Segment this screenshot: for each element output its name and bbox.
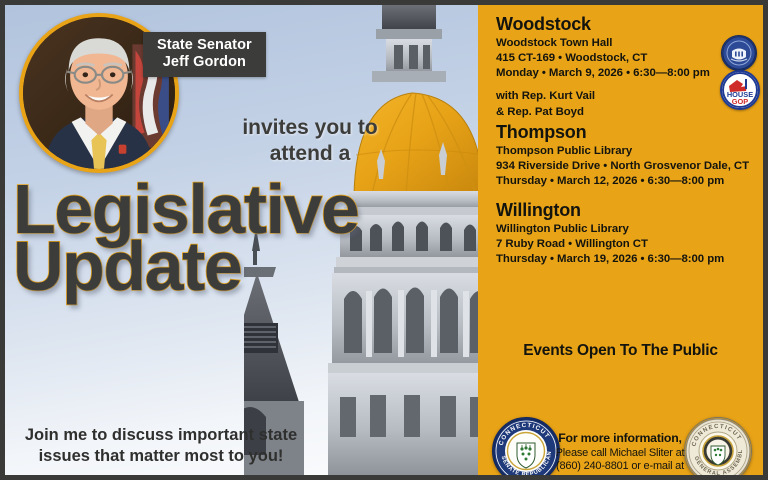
page-title: Legislative Update bbox=[13, 181, 453, 296]
invitation-text: invites you to attend a bbox=[195, 115, 425, 166]
left-panel: State Senator Jeff Gordon invites you to… bbox=[5, 5, 478, 475]
invites-line-2: attend a bbox=[195, 141, 425, 167]
events-panel: Woodstock Woodstock Town Hall 415 CT-169… bbox=[478, 5, 763, 475]
house-gop-badge-icon: HOUSE GOP bbox=[720, 70, 760, 110]
event-with-rep-line-1: with Rep. Kurt Vail bbox=[496, 89, 742, 104]
event-address: 7 Ruby Road • Willington CT bbox=[496, 237, 742, 252]
event-item: Woodstock Woodstock Town Hall 415 CT-169… bbox=[496, 15, 742, 120]
contact-heading: For more information, bbox=[550, 431, 690, 446]
ct-general-assembly-seal: CONNECTICUT GENERAL ASSEMBLY bbox=[684, 417, 752, 475]
contact-email: Michael.Sliter@cga.ct.gov bbox=[550, 474, 690, 475]
event-item: Willington Willington Public Library 7 R… bbox=[496, 201, 742, 267]
tagline-line-1: Join me to discuss important state bbox=[11, 425, 311, 446]
event-address: 415 CT-169 • Woodstock, CT bbox=[496, 51, 742, 66]
event-datetime: Monday • March 9, 2026 • 6:30—8:00 pm bbox=[496, 66, 742, 81]
invites-line-1: invites you to bbox=[195, 115, 425, 141]
event-datetime: Thursday • March 19, 2026 • 6:30—8:00 pm bbox=[496, 252, 742, 267]
nameplate-name: Jeff Gordon bbox=[157, 54, 252, 71]
contact-line-1: Please call Michael Sliter at bbox=[550, 447, 690, 460]
nameplate-title: State Senator bbox=[157, 37, 252, 54]
public-notice: Events Open To The Public bbox=[478, 342, 763, 360]
event-venue: Willington Public Library bbox=[496, 222, 742, 237]
event-datetime: Thursday • March 12, 2026 • 6:30—8:00 pm bbox=[496, 174, 742, 189]
house-gop-label-bottom: GOP bbox=[732, 97, 748, 106]
tagline-line-2: issues that matter most to you! bbox=[11, 446, 311, 467]
event-with-rep-line-2: & Rep. Pat Boyd bbox=[496, 105, 742, 120]
event-venue: Woodstock Town Hall bbox=[496, 36, 742, 51]
tagline: Join me to discuss important state issue… bbox=[11, 425, 311, 466]
contact-info: For more information, Please call Michae… bbox=[550, 431, 690, 475]
ct-general-assembly-seal-glyph: CONNECTICUT GENERAL ASSEMBLY bbox=[685, 418, 751, 475]
event-venue: Thompson Public Library bbox=[496, 144, 742, 159]
headline-line-2: Update bbox=[13, 238, 453, 295]
event-item: Thompson Thompson Public Library 934 Riv… bbox=[496, 123, 742, 189]
event-address: 934 Riverside Drive • North Grosvenor Da… bbox=[496, 159, 742, 174]
event-city: Woodstock bbox=[496, 15, 742, 34]
event-city: Willington bbox=[496, 201, 742, 220]
nameplate: State Senator Jeff Gordon bbox=[143, 32, 266, 77]
legislative-update-flyer: State Senator Jeff Gordon invites you to… bbox=[0, 0, 768, 480]
event-city: Thompson bbox=[496, 123, 742, 142]
ct-senate-seal-glyph bbox=[722, 36, 756, 70]
contact-line-2: (860) 240-8801 or e-mail at bbox=[550, 460, 690, 473]
ct-senate-seal-icon bbox=[721, 35, 757, 71]
house-gop-glyph: HOUSE GOP bbox=[722, 72, 758, 108]
